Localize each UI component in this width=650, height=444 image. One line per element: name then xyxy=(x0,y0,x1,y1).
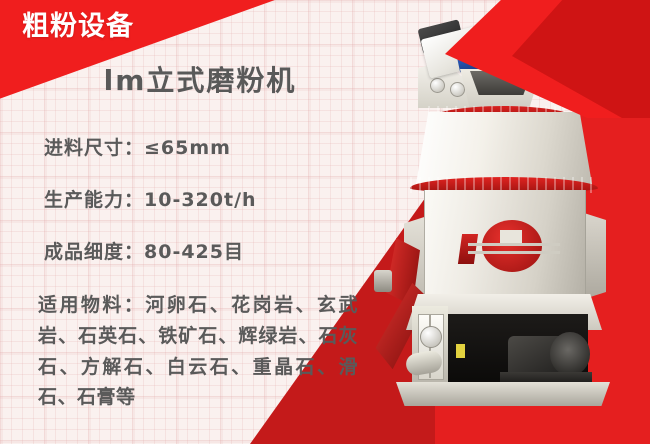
machine-linkage-bars xyxy=(468,240,560,260)
product-poster: 粗粉设备 lm立式磨粉机 进料尺寸：≤65mm 生产能力：10-320t/h 成… xyxy=(0,0,650,444)
machine-foundation-slab xyxy=(396,382,610,406)
applicable-materials-text: 适用物料：河卵石、花岗岩、玄武岩、石英石、铁矿石、辉绿岩、石灰石、方解石、白云石… xyxy=(38,290,358,413)
spec-feed-size: 进料尺寸：≤65mm xyxy=(44,133,374,160)
spec-list: 进料尺寸：≤65mm 生产能力：10-320t/h 成品细度：80-425目 xyxy=(44,133,374,289)
machine-classifier-cone xyxy=(416,112,592,184)
machine-yellow-marker xyxy=(481,54,493,66)
machine-gauge-icon xyxy=(420,326,442,348)
machine-cylinder-head xyxy=(374,270,392,292)
product-image-vertical-mill xyxy=(372,14,634,412)
machine-drive-wheel xyxy=(550,332,590,376)
category-banner-label: 粗粉设备 xyxy=(22,12,134,42)
spec-capacity: 生产能力：10-320t/h xyxy=(44,185,374,212)
spec-fineness: 成品细度：80-425目 xyxy=(44,237,374,264)
machine-hopper-opening xyxy=(470,71,532,95)
machine-porthole-icon xyxy=(450,82,465,97)
machine-warning-label xyxy=(456,344,465,358)
product-title: lm立式磨粉机 xyxy=(0,59,400,99)
machine-porthole-icon xyxy=(430,78,445,93)
